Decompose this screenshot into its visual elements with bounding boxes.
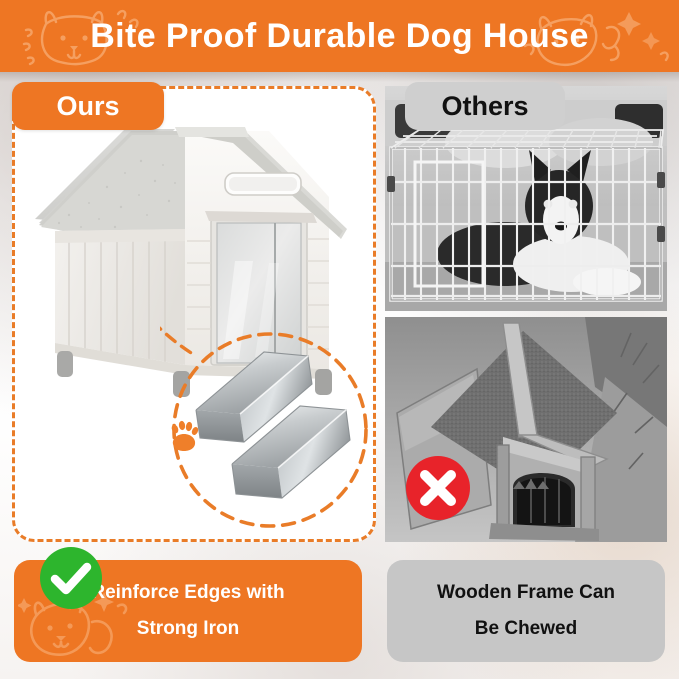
ours-caption-line-1: Reinforce Edges with (91, 583, 284, 603)
ours-tag: Ours (12, 82, 164, 130)
others-caption-line-2: Be Chewed (475, 619, 577, 639)
green-check-badge-icon (37, 544, 105, 612)
others-tag-label: Others (441, 91, 528, 122)
others-caption-line-1: Wooden Frame Can (437, 583, 615, 603)
ours-tag-label: Ours (56, 91, 119, 122)
others-tag: Others (405, 82, 565, 130)
ours-panel (12, 86, 376, 542)
ours-caption-line-2: Strong Iron (137, 619, 239, 639)
header-banner: Bite Proof Durable Dog House (0, 0, 679, 72)
paw-print-icon (167, 419, 201, 453)
page-title: Bite Proof Durable Dog House (0, 0, 679, 72)
others-caption: Wooden Frame Can Be Chewed (387, 560, 665, 662)
product-comparison-infographic: Bite Proof Durable Dog House (0, 0, 679, 679)
red-x-badge-icon (403, 453, 473, 523)
banner-shadow (0, 72, 679, 82)
